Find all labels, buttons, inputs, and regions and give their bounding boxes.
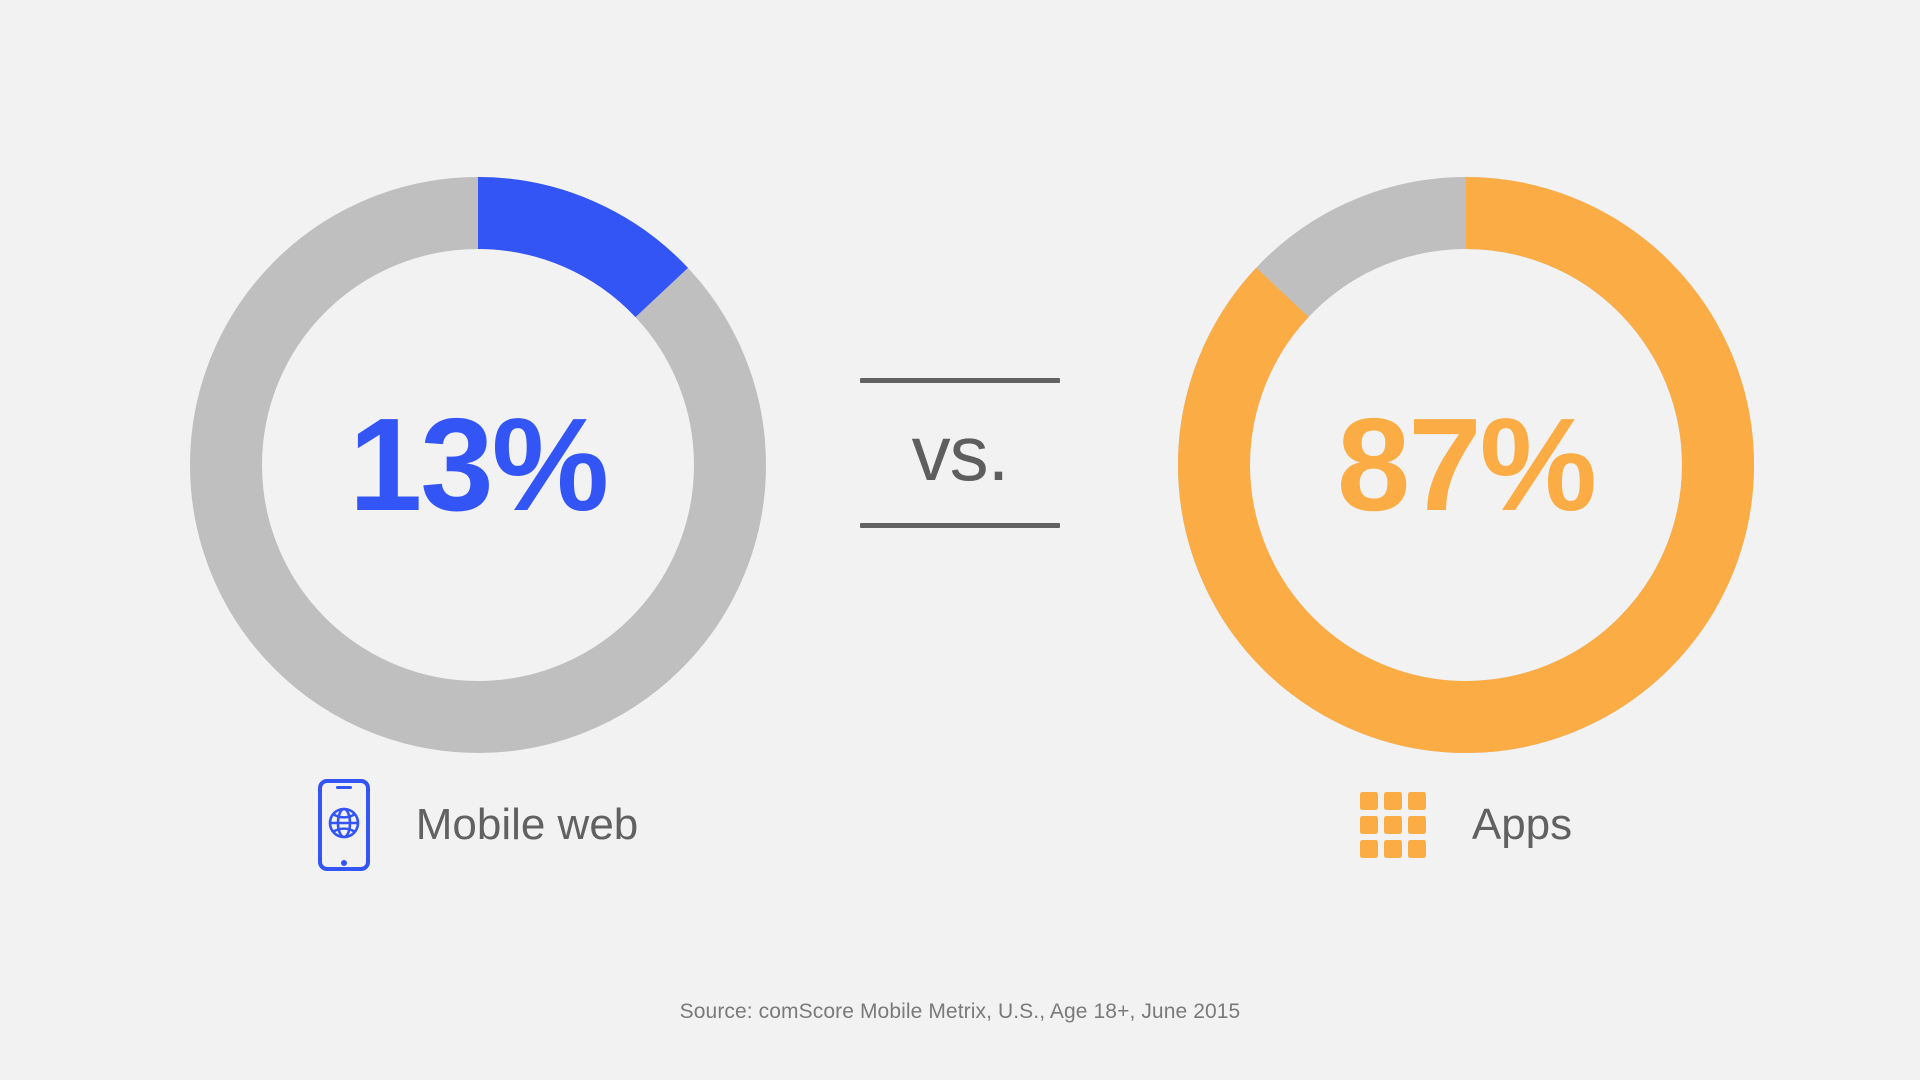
mobile-phone-globe-icon xyxy=(318,779,370,871)
apps-grid-icon xyxy=(1360,792,1426,858)
apps-grid-icon-svg xyxy=(1360,792,1426,858)
versus-rule-bottom xyxy=(860,523,1060,528)
versus-separator: vs. xyxy=(860,378,1060,528)
mobile-web-panel: 13% Mobil xyxy=(128,0,828,1080)
infographic-canvas: 13% Mobil xyxy=(0,0,1920,1080)
mobile-web-donut-svg xyxy=(190,177,766,753)
mobile-web-donut: 13% xyxy=(190,177,766,753)
apps-donut: 87% xyxy=(1178,177,1754,753)
versus-label: vs. xyxy=(860,383,1060,523)
mobile-web-legend: Mobile web xyxy=(128,770,828,880)
mobile-web-legend-label: Mobile web xyxy=(416,803,639,847)
apps-panel: 87% Apps xyxy=(1116,0,1816,1080)
apps-legend: Apps xyxy=(1116,770,1816,880)
apps-donut-svg xyxy=(1178,177,1754,753)
source-attribution: Source: comScore Mobile Metrix, U.S., Ag… xyxy=(0,1000,1920,1024)
mobile-phone-globe-icon-svg xyxy=(318,779,370,871)
apps-legend-label: Apps xyxy=(1472,803,1572,847)
